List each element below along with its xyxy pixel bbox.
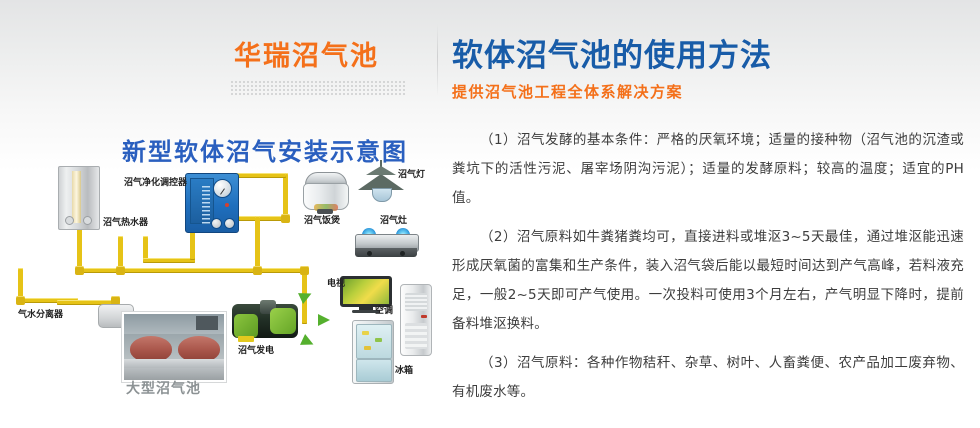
biogas-generator-image <box>232 298 298 342</box>
label-air-conditioner: 空调 <box>375 306 393 317</box>
pressure-gauge-icon <box>213 179 232 198</box>
large-biogas-digester-photo <box>122 312 226 382</box>
paragraph-1: （1）沼气发酵的基本条件：严格的厌氧环境；适量的接种物（沼气池的沉渣或粪坑下的活… <box>452 126 964 213</box>
air-conditioner-image <box>400 284 432 356</box>
biogas-stove-image <box>355 228 417 258</box>
flow-arrow-to-tv <box>298 288 314 304</box>
label-refrigerator: 冰箱 <box>395 366 413 377</box>
gauge-needle <box>220 188 225 194</box>
digester-wall <box>124 359 226 368</box>
controller-port-1 <box>211 218 222 229</box>
fridge-lower-door <box>356 359 392 382</box>
biogas-rice-cooker-image <box>303 172 347 210</box>
label-rice-cooker: 沼气饭煲 <box>304 216 340 227</box>
pipe-joint <box>116 266 125 275</box>
label-separator: 气水分离器 <box>18 310 63 321</box>
ac-grill <box>405 323 427 349</box>
paragraph-3: （3）沼气原料：各种作物秸秆、杂草、树叶、人畜粪便、农产品加工废弃物、有机废水等… <box>452 349 964 407</box>
pipe-joint <box>300 266 309 275</box>
lamp-glass <box>372 188 392 202</box>
content-text-panel: （1）沼气发酵的基本条件：严格的厌氧环境；适量的接种物（沼气池的沉渣或粪坑下的活… <box>452 126 964 417</box>
pipe-joint <box>281 214 290 223</box>
indicator-light <box>225 203 229 207</box>
generator-green-panel-right <box>270 308 296 334</box>
heater-panel <box>72 171 81 223</box>
paragraph-2: （2）沼气原料如牛粪猪粪均可，直接进料或堆沤3~5天最佳，通过堆沤能迅速形成厌氧… <box>452 223 964 339</box>
fridge-item <box>362 331 369 335</box>
lamp-shade-top <box>366 166 396 175</box>
pipe-joint <box>75 266 84 275</box>
heater-knob-right <box>83 216 92 225</box>
digester-building <box>196 316 218 330</box>
fridge-item <box>364 346 371 350</box>
label-water-heater: 沼气热水器 <box>103 218 148 229</box>
flow-arrow-to-fridge <box>300 334 316 350</box>
installation-diagram: 新型软体沼气安装示意图 沼气热水器 <box>0 118 450 428</box>
refrigerator-image <box>352 320 394 384</box>
brand-logo: 华瑞沼气池 <box>234 40 414 102</box>
page-root: 华瑞沼气池 软体沼气池的使用方法 提供沼气池工程全体系解决方案 新型软体沼气安装… <box>0 0 980 428</box>
label-controller: 沼气净化调控器 <box>124 178 187 189</box>
header-divider <box>437 24 438 96</box>
label-generator: 沼气发电 <box>238 346 274 357</box>
title-block: 软体沼气池的使用方法 提供沼气池工程全体系解决方案 <box>452 36 972 103</box>
biogas-water-heater-image <box>58 166 100 230</box>
ac-led <box>421 315 427 318</box>
diagram-title: 新型软体沼气安装示意图 <box>122 132 408 167</box>
controller-port-2 <box>224 218 235 229</box>
stove-front <box>355 248 417 257</box>
cooker-base <box>317 209 333 214</box>
biogas-purification-controller-image <box>185 173 239 233</box>
brand-logo-text: 华瑞沼气池 <box>234 40 414 74</box>
pipe-segment <box>143 258 195 263</box>
tv-screen <box>340 276 392 307</box>
pipe-joint <box>16 296 25 305</box>
cooker-body <box>303 183 349 210</box>
label-stove: 沼气灶 <box>380 216 407 227</box>
ac-vent <box>405 293 427 311</box>
fridge-item <box>375 338 382 342</box>
controller-text-lines <box>202 186 210 224</box>
heater-knob-left <box>65 216 74 225</box>
fridge-upper-door <box>356 324 392 359</box>
generator-label-plate <box>238 336 254 342</box>
pipe-segment <box>77 268 307 273</box>
pipe-segment <box>118 236 123 270</box>
page-header: 华瑞沼气池 软体沼气池的使用方法 提供沼气池工程全体系解决方案 <box>0 0 980 120</box>
pipe-segment <box>255 216 260 271</box>
page-subtitle: 提供沼气池工程全体系解决方案 <box>452 81 972 103</box>
controller-panel <box>190 178 214 224</box>
halftone-dots-decoration <box>230 80 406 96</box>
stove-knob-left <box>367 251 372 256</box>
pipe-segment <box>143 236 148 260</box>
pipe-segment <box>283 173 288 218</box>
digester-ground <box>124 368 226 380</box>
label-digester: 大型沼气池 <box>126 384 201 395</box>
generator-green-panel-left <box>234 314 258 338</box>
pipe-joint <box>253 266 262 275</box>
stove-knob-right <box>400 251 405 256</box>
flow-arrow-to-ac <box>318 314 330 326</box>
page-title: 软体沼气池的使用方法 <box>452 36 972 76</box>
label-lamp: 沼气灯 <box>398 170 425 181</box>
label-tv: 电视 <box>327 279 345 290</box>
